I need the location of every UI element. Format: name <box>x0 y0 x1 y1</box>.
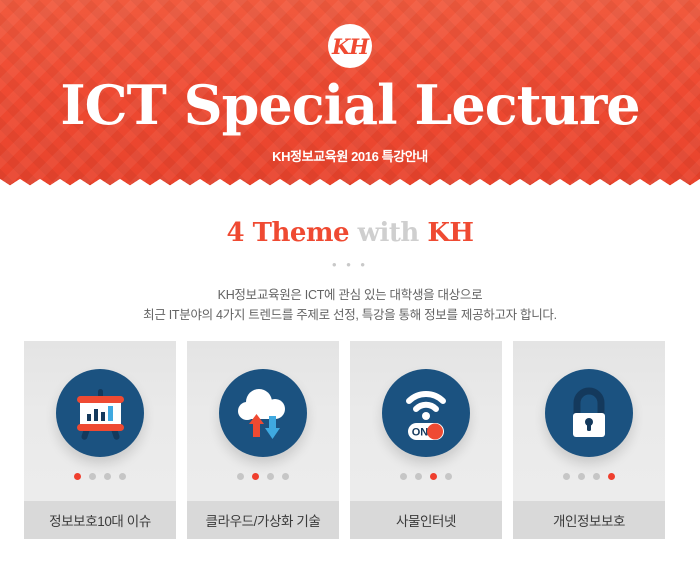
card-body <box>24 341 176 501</box>
dot-indicator <box>119 473 126 480</box>
intro-description-line-1: KH정보교육원은 ICT에 관심 있는 대학생을 대상으로 <box>0 285 700 305</box>
intro-title-part1: 4 Theme <box>227 218 350 248</box>
dot-indicator <box>608 473 615 480</box>
intro-separator-dots: • • • <box>0 258 700 271</box>
dot-indicator <box>445 473 452 480</box>
dot-indicator <box>400 473 407 480</box>
svg-text:ON: ON <box>412 426 429 438</box>
card-body <box>187 341 339 501</box>
dot-indicator <box>415 473 422 480</box>
card-label: 사물인터넷 <box>350 501 502 539</box>
intro-description-line-2: 최근 IT분야의 4가지 트렌드를 주제로 선정, 특강을 통해 정보를 제공하… <box>0 305 700 325</box>
card-body: ON <box>350 341 502 501</box>
dot-indicator <box>282 473 289 480</box>
dot-indicator <box>74 473 81 480</box>
intro-title: 4 Theme with KH <box>0 220 700 246</box>
card-dots <box>400 473 452 480</box>
card-dots <box>237 473 289 480</box>
hero-banner: KH ICT Special Lecture KH정보교육원 2016 특강안내 <box>0 0 700 192</box>
dot-indicator <box>563 473 570 480</box>
page-title: ICT Special Lecture <box>0 78 700 132</box>
dot-indicator <box>252 473 259 480</box>
cloud-upload-download-icon <box>219 369 307 457</box>
card-body <box>513 341 665 501</box>
theme-card[interactable]: ON 사물인터넷 <box>350 341 502 539</box>
dot-indicator <box>578 473 585 480</box>
dot-indicator <box>89 473 96 480</box>
page-subtitle: KH정보교육원 2016 특강안내 <box>0 146 700 165</box>
theme-card[interactable]: 개인정보보호 <box>513 341 665 539</box>
kh-logo-text: KH <box>328 24 372 68</box>
card-label: 클라우드/가상화 기술 <box>187 501 339 539</box>
kh-logo-icon: KH <box>328 24 372 68</box>
intro-title-part3: KH <box>427 218 473 248</box>
intro-title-part2: with <box>358 218 419 248</box>
theme-card-list: 정보보호10대 이슈 <box>0 341 700 539</box>
presentation-chart-icon <box>56 369 144 457</box>
dot-indicator <box>267 473 274 480</box>
card-dots <box>563 473 615 480</box>
dot-indicator <box>593 473 600 480</box>
padlock-icon <box>545 369 633 457</box>
zigzag-divider <box>0 179 700 192</box>
theme-card[interactable]: 클라우드/가상화 기술 <box>187 341 339 539</box>
dot-indicator <box>104 473 111 480</box>
card-dots <box>74 473 126 480</box>
card-label: 정보보호10대 이슈 <box>24 501 176 539</box>
dot-indicator <box>237 473 244 480</box>
intro-section: 4 Theme with KH • • • KH정보교육원은 ICT에 관심 있… <box>0 192 700 326</box>
card-label: 개인정보보호 <box>513 501 665 539</box>
wifi-on-toggle-icon: ON <box>382 369 470 457</box>
intro-description: KH정보교육원은 ICT에 관심 있는 대학생을 대상으로 최근 IT분야의 4… <box>0 285 700 326</box>
dot-indicator <box>430 473 437 480</box>
page-root: KH ICT Special Lecture KH정보교육원 2016 특강안내… <box>0 0 700 565</box>
theme-card[interactable]: 정보보호10대 이슈 <box>24 341 176 539</box>
